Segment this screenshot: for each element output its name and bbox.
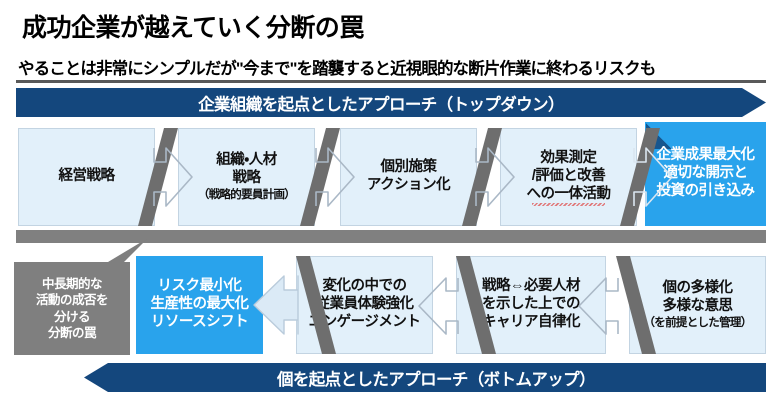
node-line: 組織・人材 xyxy=(216,152,276,170)
node-line: 生産性の最大化 xyxy=(151,296,249,314)
node-org-talent-strategy[interactable]: 組織・人材 戦略 （戦略的要員計画） xyxy=(178,128,315,226)
node-line: 個の多様化 xyxy=(663,280,733,298)
bottom-approach-banner-label: 個を起点としたアプローチ（ボトムアップ） xyxy=(277,366,595,390)
node-risk-minimization-productivity[interactable]: リスク最小化 生産性の最大化 リソースシフト xyxy=(136,256,263,354)
node-management-strategy[interactable]: 経営戦略 xyxy=(18,128,155,226)
top-approach-banner: 企業組織を起点としたアプローチ（トップダウン） xyxy=(16,88,766,117)
node-individual-diversity-intent[interactable]: 個の多様化 多様な意思 （を前提とした管理） xyxy=(629,256,766,354)
node-line: エンゲージメント xyxy=(309,314,421,332)
node-line: 経営戦略 xyxy=(59,168,115,186)
node-subtext: （を前提とした管理） xyxy=(644,316,752,330)
callout-line: 活動の成否を xyxy=(36,292,108,308)
node-line: 戦略⇔必要人材 xyxy=(482,278,580,296)
node-line: /評価と改善 xyxy=(532,168,606,186)
node-line: 効果測定 xyxy=(541,150,597,168)
node-line: リソースシフト xyxy=(151,314,248,332)
node-effect-measurement-improvement[interactable]: 効果測定 /評価と改善 への一体活動 xyxy=(500,128,637,226)
node-line: 投資の引き込み xyxy=(657,183,755,201)
node-line-spellchecked: への一体活動 xyxy=(527,186,611,204)
node-line: 個別施策 xyxy=(381,159,437,177)
node-line: 適切な開示と xyxy=(664,165,748,183)
node-line: 企業成果最大化 xyxy=(657,147,755,165)
diagram-canvas: 成功企業が越えていく分断の罠 やることは非常にシンプルだが"今まで"を踏襲すると… xyxy=(0,0,780,408)
callout-line: 分断の罠 xyxy=(48,325,96,341)
callout-line: 分ける xyxy=(54,309,90,325)
node-employee-experience-engagement[interactable]: 変化の中での 従業員体験強化 エンゲージメント xyxy=(296,256,433,354)
callout-line: 中長期的な xyxy=(42,276,102,292)
node-line: キャリア自律化 xyxy=(482,314,580,332)
callout-fragmentation-trap: 中長期的な 活動の成否を 分ける 分断の罠 xyxy=(14,262,130,355)
node-line: 戦略 xyxy=(233,170,261,188)
bottom-approach-banner: 個を起点としたアプローチ（ボトムアップ） xyxy=(84,363,766,392)
node-line: アクション化 xyxy=(367,177,450,195)
subtitle-divider-rule xyxy=(16,80,766,83)
node-individual-measures-action[interactable]: 個別施策 アクション化 xyxy=(340,128,477,226)
top-approach-banner-label: 企業組織を起点としたアプローチ（トップダウン） xyxy=(198,91,564,115)
node-maximize-corporate-results[interactable]: 企業成果最大化 適切な開示と 投資の引き込み xyxy=(645,122,766,226)
page-title: 成功企業が越えていく分断の罠 xyxy=(22,8,762,44)
node-subtext: （戦略的要員計画） xyxy=(198,188,295,202)
node-line: を示した上での xyxy=(482,296,580,314)
node-line: 多様な意思 xyxy=(663,298,733,316)
page-subtitle: やることは非常にシンプルだが"今まで"を踏襲すると近視眼的な断片作業に終わるリス… xyxy=(18,55,766,79)
node-line: 変化の中での xyxy=(323,278,407,296)
node-line: リスク最小化 xyxy=(158,278,242,296)
node-strategy-talent-career-autonomy[interactable]: 戦略⇔必要人材 を示した上での キャリア自律化 xyxy=(456,256,606,354)
node-line: 従業員体験強化 xyxy=(316,296,414,314)
